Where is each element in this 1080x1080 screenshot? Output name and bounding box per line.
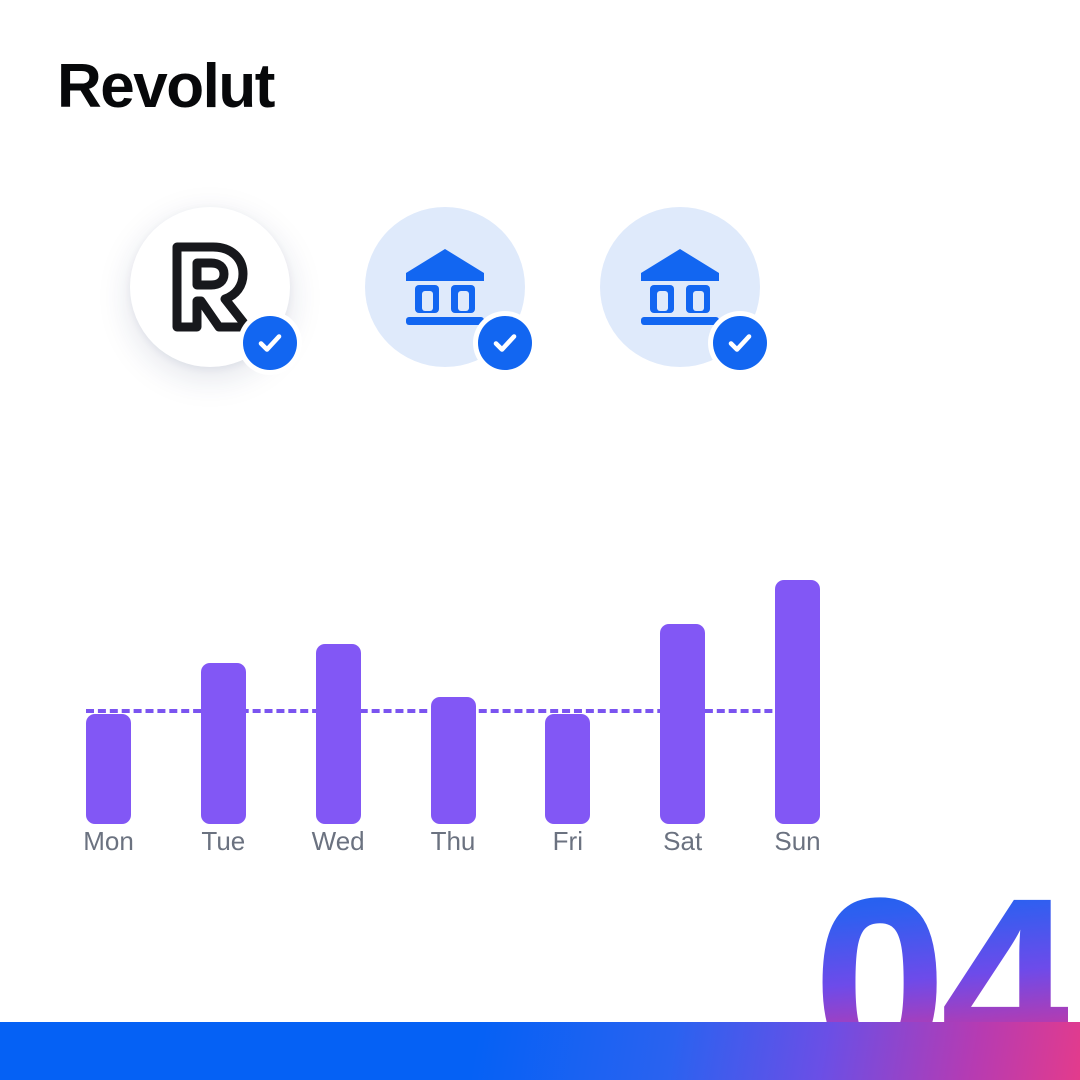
chart-tick-label: Tue	[173, 828, 273, 854]
bottom-gradient-bar	[0, 1022, 1080, 1080]
chart-plot-area	[86, 556, 820, 824]
chart-bar	[86, 714, 131, 824]
check-icon	[478, 316, 532, 370]
weekly-bar-chart: MonTueWedThuFriSatSun	[86, 556, 820, 876]
slide-canvas: Revolut	[0, 0, 1080, 1080]
chart-tick-label: Fri	[518, 828, 618, 854]
account-card-revolut[interactable]	[130, 207, 290, 367]
chart-tick-label: Mon	[59, 828, 159, 854]
chart-bar	[201, 663, 246, 824]
chart-bar	[660, 624, 705, 824]
chart-bar	[431, 697, 476, 824]
verified-badge	[473, 311, 537, 375]
chart-x-axis-labels: MonTueWedThuFriSatSun	[86, 828, 820, 872]
account-card-bank-2[interactable]	[600, 207, 760, 367]
verified-badge	[238, 311, 302, 375]
chart-tick-label: Thu	[403, 828, 503, 854]
brand-wordmark: Revolut	[57, 56, 274, 118]
account-card-bank-1[interactable]	[365, 207, 525, 367]
chart-bar	[545, 714, 590, 824]
linked-accounts-row	[130, 207, 790, 382]
chart-bar	[775, 580, 820, 824]
chart-tick-label: Wed	[288, 828, 388, 854]
check-icon	[713, 316, 767, 370]
chart-tick-label: Sat	[633, 828, 733, 854]
verified-badge	[708, 311, 772, 375]
chart-bar	[316, 644, 361, 824]
check-icon	[243, 316, 297, 370]
